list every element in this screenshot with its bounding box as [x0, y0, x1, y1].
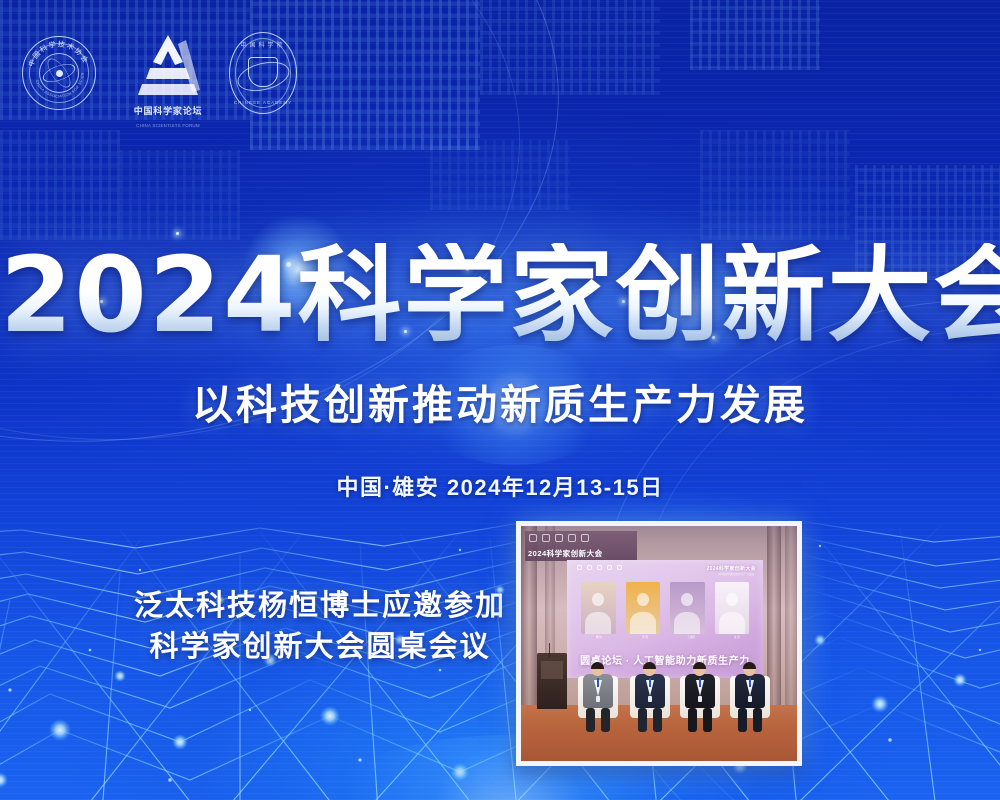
page-title: 2024科学家创新大会 [0, 243, 1000, 347]
speaker-portrait [670, 582, 705, 634]
svg-text:中国科学技术协会: 中国科学技术协会 [26, 39, 90, 68]
triangle-logo: 中国科学家论坛 CHINA SCIENTISTS FORUM [128, 32, 208, 114]
speaker-name: 李 明 [627, 636, 663, 640]
photo-podium [537, 653, 567, 709]
photo-microphone-icon [549, 643, 550, 657]
photo-caption: 泛太科技杨恒博士应邀参加 科学家创新大会圆桌会议 [120, 586, 520, 668]
speaker-portrait [581, 582, 616, 634]
caption-line-1: 泛太科技杨恒博士应邀参加 [120, 586, 520, 627]
speaker-name: 王建国 [673, 636, 709, 640]
seal-arc-text: 中国科学技术协会 CHINA ASSOCIATION FOR SCIENCE [24, 38, 94, 108]
photo-presentation-screen: 2024科学家创新大会 以科技创新推动新质生产力发展 杨 恒 李 明 王建国 张… [567, 560, 763, 678]
conference-poster: 中国科学技术协会 CHINA ASSOCIATION FOR SCIENCE 中… [0, 0, 1000, 800]
page-subtitle: 以科技创新推动新质生产力发展 [0, 385, 1000, 426]
speaker-portrait [715, 582, 750, 634]
screen-subtitle: 以科技创新推动新质生产力发展 [718, 572, 754, 576]
speaker-name-list: 杨 恒 李 明 王建国 张 伟 [567, 636, 763, 640]
screen-title: 2024科学家创新大会 [707, 565, 756, 572]
logo-row: 中国科学技术协会 CHINA ASSOCIATION FOR SCIENCE 中… [0, 28, 320, 128]
speaker-portrait-list [581, 582, 749, 634]
roundtable-panel-photo: 2024科学家创新大会 2024科学家创新大会 以科技创新推动新质生产力发展 杨… [516, 521, 802, 766]
cast-seal-logo: 中国科学技术协会 CHINA ASSOCIATION FOR SCIENCE [22, 36, 96, 110]
photo-stage-banner: 2024科学家创新大会 [525, 531, 637, 561]
speaker-name: 张 伟 [719, 636, 755, 640]
speaker-name: 杨 恒 [581, 636, 617, 640]
speaker-portrait [626, 582, 661, 634]
photo-banner-title: 2024科学家创新大会 [528, 548, 603, 559]
caption-line-2: 科学家创新大会圆桌会议 [120, 627, 520, 668]
triangle-logo-label: 中国科学家论坛 [108, 104, 228, 117]
oval-academy-logo: 中国科学院 CHINESE ACADEMY [229, 32, 297, 114]
oval-logo-bottom-text: CHINESE ACADEMY [230, 100, 296, 105]
triangle-logo-sublabel: CHINA SCIENTISTS FORUM [88, 123, 248, 128]
triangle-emblem-icon [128, 32, 208, 100]
oval-logo-top-text: 中国科学院 [230, 40, 296, 49]
